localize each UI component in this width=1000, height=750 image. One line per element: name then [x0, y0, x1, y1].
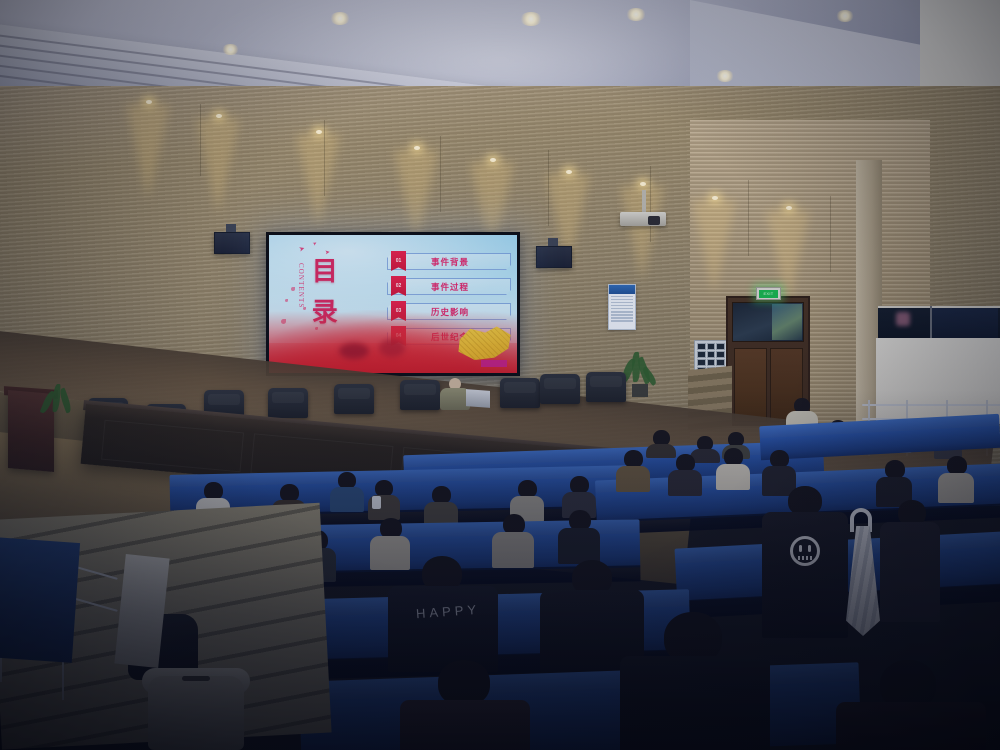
wall-panel-seam	[748, 180, 749, 256]
notice-text-line	[611, 308, 633, 310]
control-room-window-tint	[932, 308, 998, 338]
rack-port	[716, 359, 725, 366]
notice-text-line	[611, 302, 633, 304]
petal-decoration	[291, 287, 295, 291]
wall-panel-seam	[548, 150, 549, 226]
lecture-hall-photo: ➤ ➤ ➤ CONTENTS 目 录 01 事件背景	[0, 0, 1000, 750]
wall-panel-seam	[324, 120, 325, 196]
audience-person	[616, 450, 650, 490]
exit-sign: EXIT	[756, 287, 781, 300]
notice-text-line	[611, 311, 633, 313]
umbrella-canopy	[846, 526, 880, 636]
smiley-face-icon	[790, 536, 820, 566]
led-presentation-screen[interactable]: ➤ ➤ ➤ CONTENTS 目 录 01 事件背景	[266, 232, 520, 376]
audience-person	[716, 448, 750, 488]
notice-text-line	[611, 305, 633, 307]
audience-person	[558, 510, 600, 562]
notice-text-line	[611, 320, 633, 322]
menu-item-label: 事件背景	[431, 253, 469, 270]
notice-text-line	[611, 314, 633, 316]
rack-port	[707, 343, 716, 350]
wall-speaker-right-bracket	[548, 238, 558, 246]
audience-person	[938, 456, 974, 502]
wall-speaker-left-bracket	[226, 224, 236, 232]
stage-chair[interactable]	[400, 380, 440, 410]
audience-person	[646, 430, 676, 454]
rack-port	[697, 351, 706, 358]
door-leaf-left[interactable]	[734, 348, 767, 422]
downlight-cone	[196, 118, 240, 214]
downlight-cone	[296, 134, 340, 230]
audience-person-foreground	[620, 612, 770, 750]
control-room-window-reflection	[896, 312, 910, 326]
rack-port	[716, 351, 725, 358]
audience-person	[668, 454, 702, 494]
audience-person	[880, 500, 940, 620]
slide-canvas: ➤ ➤ ➤ CONTENTS 目 录 01 事件背景	[269, 235, 517, 373]
rack-port	[716, 343, 725, 350]
projector-lens	[648, 216, 660, 225]
petal-decoration	[285, 299, 288, 302]
menu-item-label: 事件过程	[431, 278, 469, 295]
notice-board-header	[609, 285, 635, 294]
audience-person-foreground	[836, 660, 986, 750]
stage-chair[interactable]	[586, 372, 626, 402]
wall-panel-seam	[440, 136, 441, 212]
rack-port	[697, 359, 706, 366]
slide-accent-bar	[481, 360, 507, 367]
rack-port	[707, 351, 716, 358]
projector-mount-pole	[642, 190, 646, 214]
potted-plant-right	[622, 352, 658, 398]
audience-person	[330, 472, 364, 510]
wall-panel-seam	[650, 166, 651, 242]
trash-bin-slot	[182, 676, 210, 681]
wall-panel-seam	[200, 104, 201, 176]
stage-chair[interactable]	[334, 384, 374, 414]
slide-crowd-silhouette	[339, 343, 369, 359]
audience-person	[492, 514, 534, 566]
notice-text-line	[611, 299, 633, 301]
audience-person-smiley-jacket	[762, 486, 848, 636]
left-barrier-panel	[0, 537, 80, 663]
white-umbrella	[846, 508, 880, 638]
audience-person-happy-jacket: HAPPY	[388, 556, 498, 666]
window-mullion	[930, 306, 932, 340]
slide-menu-item[interactable]: 02 事件过程	[387, 278, 511, 295]
exit-sign-glow: EXIT	[759, 290, 778, 298]
bird-decoration-icon: ➤	[325, 249, 331, 257]
door-window-reflection	[772, 304, 802, 340]
potted-plant-stage	[44, 382, 78, 422]
rack-port	[697, 343, 706, 350]
slide-menu-item[interactable]: 01 事件背景	[387, 253, 511, 270]
wall-notice-board	[608, 284, 636, 330]
menu-item-number: 02	[396, 283, 402, 289]
wall-speaker-right	[536, 246, 572, 268]
menu-item-number: 01	[396, 258, 402, 264]
presenter-laptop[interactable]	[466, 389, 490, 408]
wall-speaker-left	[214, 232, 250, 254]
exit-sign-label: EXIT	[763, 291, 773, 296]
wall-panel-seam	[830, 196, 831, 272]
drink-cup	[372, 496, 381, 509]
slide-crowd-silhouette	[379, 339, 405, 357]
notice-text-line	[611, 296, 633, 298]
downlight-cone	[126, 104, 170, 200]
downlight-cone	[692, 200, 736, 296]
stage-chair[interactable]	[268, 388, 308, 418]
rack-port	[707, 359, 716, 366]
audience-person	[424, 486, 458, 526]
stage-chair[interactable]	[500, 378, 540, 408]
audience-person-foreground	[400, 660, 530, 750]
trash-bin	[148, 676, 244, 750]
notice-text-line	[611, 317, 633, 319]
stage-chair[interactable]	[540, 374, 580, 404]
slide-title-english: CONTENTS	[297, 263, 305, 308]
